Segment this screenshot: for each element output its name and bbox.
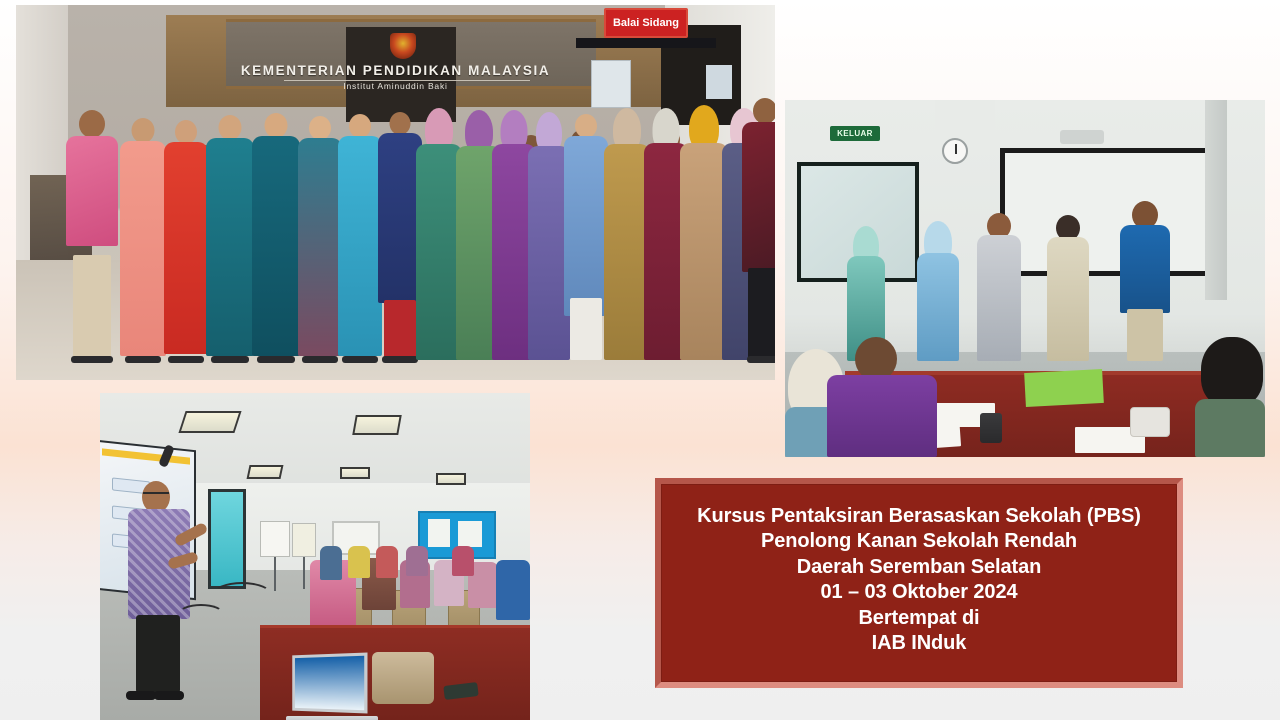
person bbox=[164, 120, 208, 360]
torso bbox=[252, 136, 300, 356]
title-line: 01 – 03 Oktober 2024 bbox=[820, 580, 1017, 606]
notice-board-2 bbox=[706, 65, 732, 99]
torso bbox=[827, 375, 937, 457]
torso bbox=[680, 143, 728, 360]
ceiling-light bbox=[352, 415, 402, 435]
torso bbox=[1120, 225, 1170, 313]
person bbox=[742, 98, 775, 360]
slide-header-bar bbox=[102, 448, 190, 464]
tv-screen bbox=[576, 38, 716, 48]
head bbox=[175, 120, 197, 144]
person bbox=[120, 118, 166, 360]
legs bbox=[570, 298, 602, 360]
shoes bbox=[71, 356, 113, 363]
title-line: IAB INduk bbox=[872, 631, 967, 657]
ceiling-light bbox=[178, 411, 241, 433]
shoes bbox=[211, 356, 249, 363]
legs bbox=[384, 300, 416, 360]
torso bbox=[1195, 399, 1265, 457]
flipchart-leg bbox=[274, 557, 276, 591]
ministry-name-text: KEMENTERIAN PENDIDIKAN MALAYSIA bbox=[16, 63, 775, 78]
person bbox=[338, 114, 382, 360]
head bbox=[753, 98, 775, 124]
title-line: Penolong Kanan Sekolah Rendah bbox=[761, 529, 1077, 555]
shoes bbox=[168, 356, 203, 363]
shoes bbox=[382, 356, 417, 363]
laptop-screen bbox=[292, 652, 367, 713]
wall-column bbox=[1205, 100, 1227, 300]
photo-group-activity: KELUAR bbox=[785, 100, 1265, 457]
title-line: Bertempat di bbox=[858, 606, 979, 632]
shoes bbox=[125, 356, 162, 363]
flipchart bbox=[260, 521, 290, 557]
balai-sidang-sign: Balai Sidang bbox=[604, 8, 688, 38]
torso bbox=[120, 141, 166, 356]
photo-facilitator-talk bbox=[100, 393, 530, 720]
head bbox=[79, 110, 105, 138]
exit-sign-label: KELUAR bbox=[837, 129, 873, 138]
mic-cable bbox=[178, 604, 224, 624]
person bbox=[1195, 337, 1265, 457]
ceiling-projector bbox=[1060, 130, 1104, 144]
torso bbox=[977, 235, 1021, 361]
audience-member bbox=[320, 546, 342, 580]
pinned-sheet bbox=[458, 521, 482, 547]
balai-sidang-label: Balai Sidang bbox=[613, 17, 679, 29]
shoes bbox=[126, 691, 156, 700]
flipchart-leg bbox=[303, 557, 305, 589]
glass-door bbox=[208, 489, 246, 589]
person bbox=[1047, 215, 1089, 361]
torso bbox=[206, 138, 254, 356]
audience-member bbox=[496, 560, 530, 620]
torso bbox=[338, 136, 382, 356]
ceiling-light bbox=[340, 467, 370, 479]
malaysia-coat-of-arms-icon bbox=[390, 33, 416, 59]
person bbox=[680, 105, 728, 360]
title-line: Daerah Seremban Selatan bbox=[797, 555, 1041, 581]
head bbox=[265, 113, 288, 138]
audience-member bbox=[348, 546, 370, 578]
flipchart bbox=[292, 523, 316, 557]
head bbox=[1201, 337, 1263, 407]
shoes bbox=[154, 691, 184, 700]
head bbox=[575, 114, 597, 138]
legs bbox=[1127, 309, 1163, 361]
person bbox=[206, 115, 254, 360]
trousers bbox=[136, 615, 180, 693]
head bbox=[309, 116, 331, 140]
green-card bbox=[1024, 369, 1104, 407]
laptop bbox=[290, 654, 376, 720]
person bbox=[1120, 201, 1170, 361]
person bbox=[564, 110, 608, 360]
laptop-keyboard bbox=[286, 716, 378, 720]
person bbox=[298, 116, 342, 360]
title-text-box: Kursus Pentaksiran Berasaskan Sekolah (P… bbox=[655, 478, 1183, 688]
head bbox=[219, 115, 242, 140]
ceiling-light bbox=[247, 465, 284, 479]
whiteboard bbox=[1000, 148, 1225, 276]
head bbox=[349, 114, 371, 138]
wall-clock-icon bbox=[942, 138, 968, 164]
torso bbox=[164, 142, 208, 354]
plastic-container bbox=[1130, 407, 1170, 437]
shoes bbox=[302, 356, 337, 363]
torso bbox=[66, 136, 118, 246]
title-line: Kursus Pentaksiran Berasaskan Sekolah (P… bbox=[697, 504, 1141, 530]
glasses-icon bbox=[143, 492, 169, 498]
head bbox=[390, 112, 411, 135]
person bbox=[827, 329, 937, 457]
shoes bbox=[342, 356, 377, 363]
drink-cup bbox=[980, 413, 1002, 443]
person bbox=[252, 113, 300, 360]
legs bbox=[748, 268, 775, 360]
legs bbox=[73, 255, 110, 360]
person bbox=[66, 110, 118, 360]
mic-cable bbox=[212, 582, 272, 608]
handbag bbox=[372, 652, 434, 704]
torso bbox=[1047, 237, 1089, 361]
shoes bbox=[257, 356, 295, 363]
pinned-sheet bbox=[428, 519, 450, 547]
institute-name-text: Institut Aminuddin Baki bbox=[16, 81, 775, 91]
person bbox=[977, 213, 1021, 361]
slide-canvas: KEMENTERIAN PENDIDIKAN MALAYSIA Institut… bbox=[0, 0, 1280, 720]
head bbox=[132, 118, 155, 143]
facilitator bbox=[128, 481, 190, 696]
audience-member bbox=[452, 546, 474, 576]
photo-group-participants: KEMENTERIAN PENDIDIKAN MALAYSIA Institut… bbox=[16, 5, 775, 380]
ceiling-light bbox=[436, 473, 466, 485]
torso bbox=[742, 122, 775, 272]
audience-member bbox=[376, 546, 398, 578]
torso bbox=[564, 136, 608, 316]
exit-sign: KELUAR bbox=[830, 126, 880, 141]
notice-board-1 bbox=[591, 60, 631, 108]
audience-member bbox=[406, 546, 428, 576]
torso bbox=[298, 138, 342, 356]
shoes bbox=[747, 356, 775, 363]
